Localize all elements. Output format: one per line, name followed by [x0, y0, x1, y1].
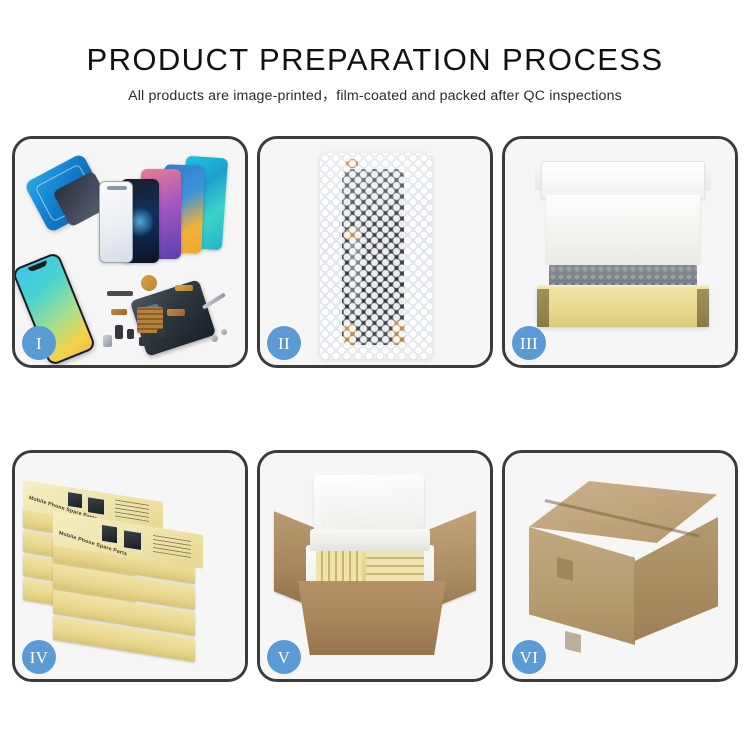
- step-badge-1: I: [22, 326, 56, 360]
- box-print-text-block: [115, 498, 149, 521]
- process-step-panel-6: VI: [502, 450, 738, 682]
- process-step-panel-2: II: [257, 136, 493, 368]
- box-print-thumbnail-icon: [87, 496, 105, 516]
- white-foam-icon: [545, 195, 701, 265]
- screw-icon: [211, 335, 218, 342]
- process-step-panel-5: V: [257, 450, 493, 682]
- process-step-panel-3: III: [502, 136, 738, 368]
- box-print-thumbnail-icon: [123, 529, 142, 551]
- screen-protector-icon: [99, 181, 133, 263]
- part-camera-icon: [139, 337, 151, 346]
- carton-body-icon: [298, 581, 446, 655]
- step-badge-3: III: [512, 326, 546, 360]
- carton-tape-icon: [557, 557, 573, 581]
- part-button-icon: [115, 325, 123, 339]
- part-ribbon-icon: [167, 309, 185, 316]
- part-flex-icon: [175, 285, 193, 291]
- part-sim-tray-icon: [103, 335, 112, 347]
- bubble-texture-icon: [320, 153, 432, 359]
- process-step-panel-4: Mobile Phone Spare Parts Mobile Phone Sp…: [12, 450, 248, 682]
- screw-icon: [221, 329, 227, 335]
- part-bracket-icon: [127, 329, 134, 339]
- box-print-text-block: [153, 532, 191, 558]
- step-badge-2: II: [267, 326, 301, 360]
- foam-rim-icon: [310, 529, 430, 551]
- carton-tape-icon: [565, 631, 581, 653]
- box-print-thumbnail-icon: [101, 524, 118, 545]
- step-badge-6: VI: [512, 640, 546, 674]
- process-step-panel-1: I: [12, 136, 248, 368]
- page-title: PRODUCT PREPARATION PROCESS: [0, 42, 750, 78]
- header: PRODUCT PREPARATION PROCESS All products…: [0, 0, 750, 122]
- part-strip-icon: [107, 291, 133, 296]
- bubble-wrap-bag-icon: [320, 153, 432, 359]
- carton-front-face-icon: [529, 527, 635, 645]
- part-ic-icon: [157, 329, 166, 338]
- process-step-grid: I II: [12, 136, 738, 682]
- step-badge-4: IV: [22, 640, 56, 674]
- product-preparation-infographic: PRODUCT PREPARATION PROCESS All products…: [0, 0, 750, 750]
- step-badge-5: V: [267, 640, 301, 674]
- part-connector-icon: [111, 309, 127, 315]
- foam-lid-icon: [541, 161, 705, 199]
- foam-cooler-lid-icon: [314, 475, 424, 537]
- page-subtitle: All products are image-printed，film-coat…: [0, 87, 750, 105]
- yellow-box-base-icon: [537, 289, 709, 327]
- part-speaker-icon: [141, 275, 157, 291]
- box-print-thumbnail-icon: [67, 491, 83, 510]
